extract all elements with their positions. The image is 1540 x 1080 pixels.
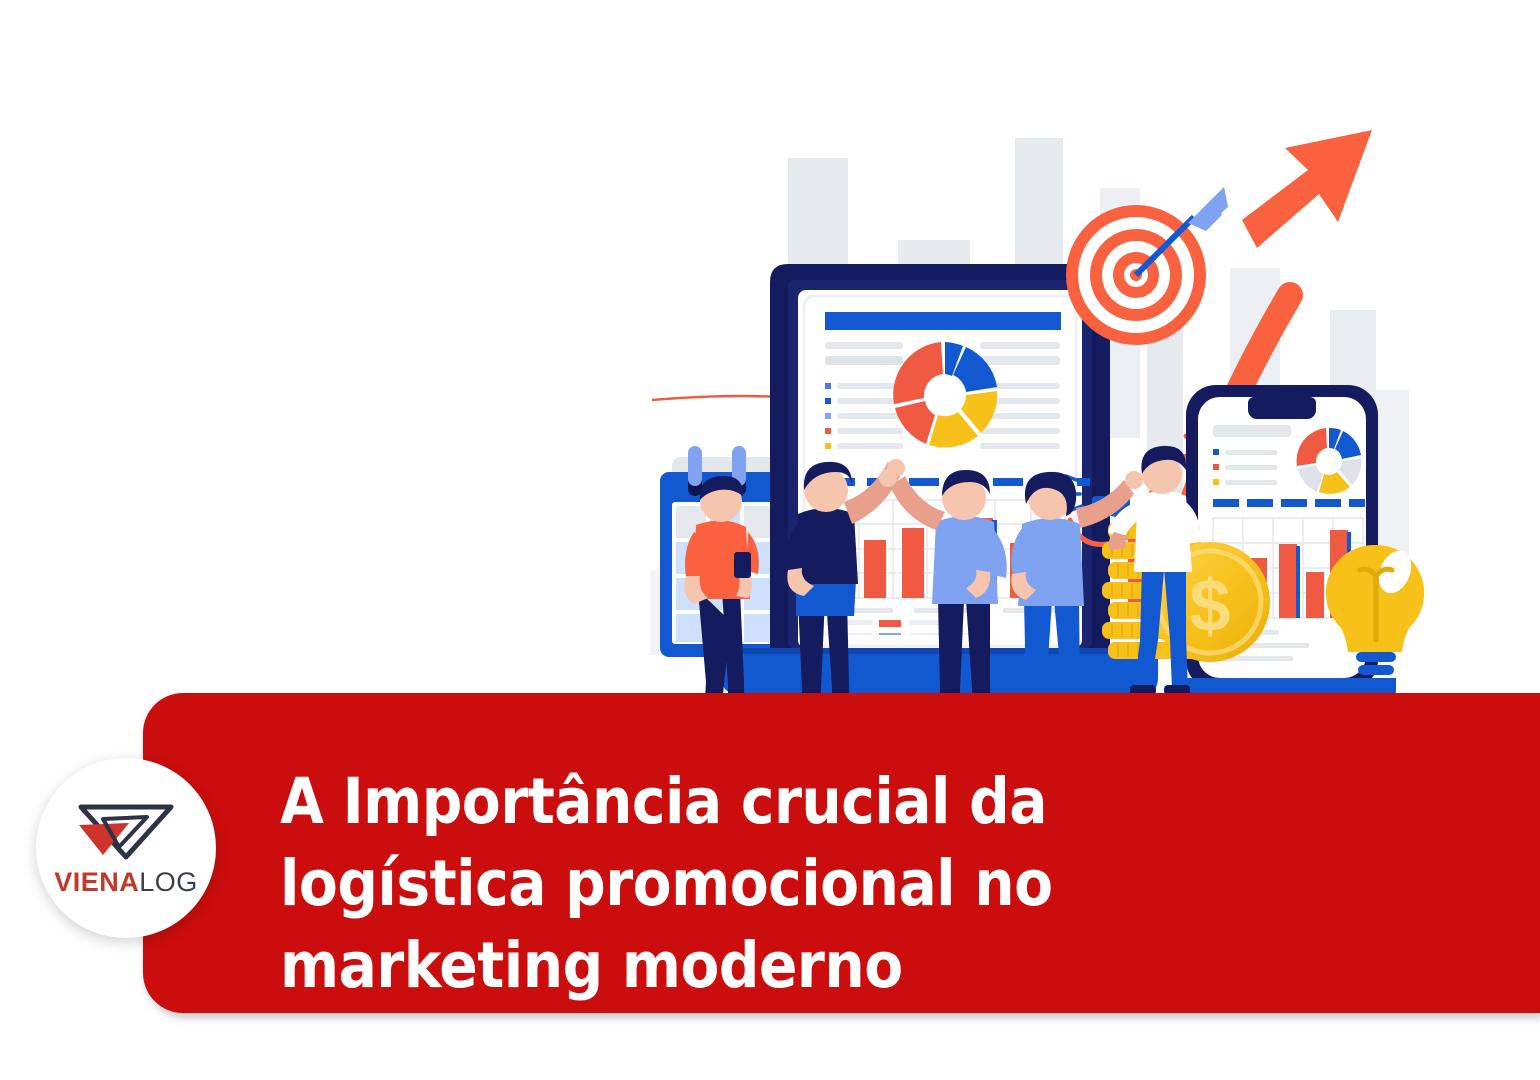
vienalog-triangle-icon [73, 799, 179, 861]
poster-canvas: $ [0, 0, 1540, 1080]
logo-wordmark-secondary: LOG [139, 867, 198, 897]
page-title: A Importância crucial da logística promo… [280, 761, 1280, 1007]
marketing-analytics-illustration: $ [630, 100, 1440, 700]
logo-wordmark: VIENALOG [54, 867, 198, 898]
svg-text:$: $ [1189, 564, 1230, 647]
dartboard-target [1066, 187, 1228, 345]
logo-badge[interactable]: VIENALOG [36, 758, 216, 938]
logo-wordmark-primary: VIENA [54, 867, 139, 897]
title-banner: A Importância crucial da logística promo… [143, 693, 1540, 1013]
